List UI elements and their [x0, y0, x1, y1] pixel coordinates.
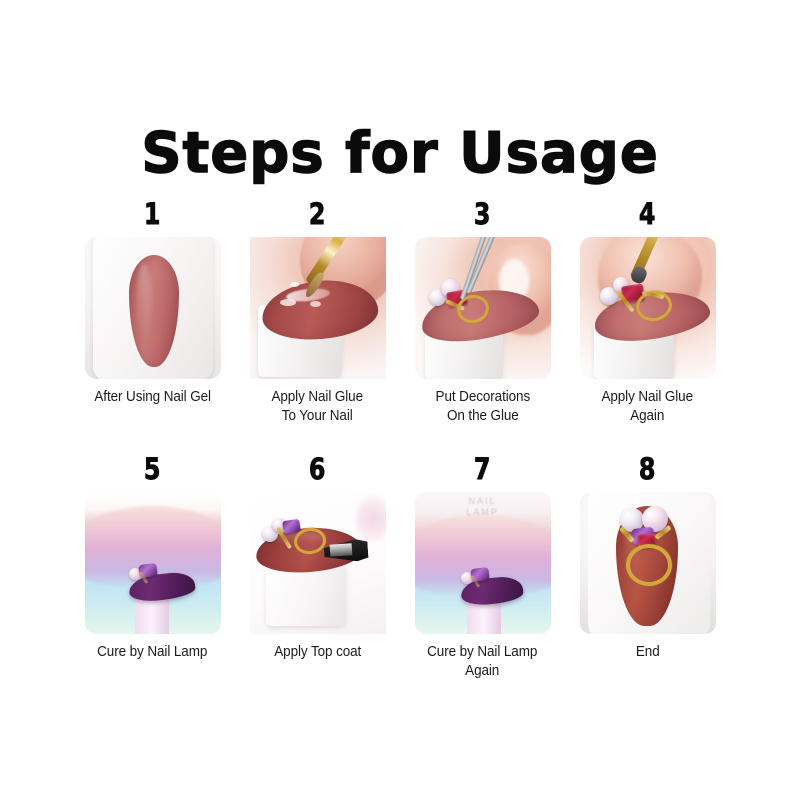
step-number-2: 2	[309, 200, 326, 229]
step-number-6: 6	[309, 455, 326, 484]
step-card-3: 3	[400, 200, 565, 425]
nail-with-gel-photo	[85, 237, 221, 379]
step-caption-8: End	[636, 643, 660, 662]
step-number-3: 3	[474, 200, 491, 229]
lamp-faint-label: NAIL LAMP	[415, 496, 551, 519]
step-card-1: 1 After Using Nail Gel	[70, 200, 235, 425]
step-caption-3: Put Decorations On the Glue	[435, 388, 530, 425]
applying-top-coat-photo	[250, 492, 386, 634]
applying-glue-again-photo	[580, 237, 716, 379]
step-card-5: 5 Cure by Nail Lamp	[70, 455, 235, 680]
instruction-infographic: Steps for Usage 1 After Using Nail Gel 2	[0, 0, 800, 800]
step-card-8: 8 End	[565, 455, 730, 680]
steps-row-top: 1 After Using Nail Gel 2	[70, 200, 730, 425]
step-caption-4: Apply Nail Glue Again	[602, 388, 694, 425]
placing-decorations-tweezers-photo	[415, 237, 551, 379]
page-title: Steps for Usage	[0, 125, 800, 184]
step-number-1: 1	[144, 200, 161, 229]
step-number-4: 4	[639, 200, 656, 229]
applying-nail-glue-photo	[250, 237, 386, 379]
step-card-4: 4 Apply Nail Glue A	[565, 200, 730, 425]
steps-row-bottom: 5 Cure by Nail Lamp 6	[70, 455, 730, 680]
step-caption-1: After Using Nail Gel	[94, 388, 211, 407]
step-number-5: 5	[144, 455, 161, 484]
step-caption-5: Cure by Nail Lamp	[97, 643, 207, 662]
step-card-2: 2	[235, 200, 400, 425]
finished-decorated-nail-photo	[580, 492, 716, 634]
curing-in-nail-lamp-photo	[85, 492, 221, 634]
curing-again-in-nail-lamp-photo: NAIL LAMP	[415, 492, 551, 634]
step-card-6: 6 Apply Top coat	[235, 455, 400, 680]
step-caption-7: Cure by Nail Lamp Again	[427, 643, 537, 680]
step-number-8: 8	[639, 455, 656, 484]
step-caption-2: Apply Nail Glue To Your Nail	[272, 388, 364, 425]
step-caption-6: Apply Top coat	[274, 643, 361, 662]
step-card-7: 7 NAIL LAMP Cure by Nail Lamp Again	[400, 455, 565, 680]
step-number-7: 7	[474, 455, 491, 484]
